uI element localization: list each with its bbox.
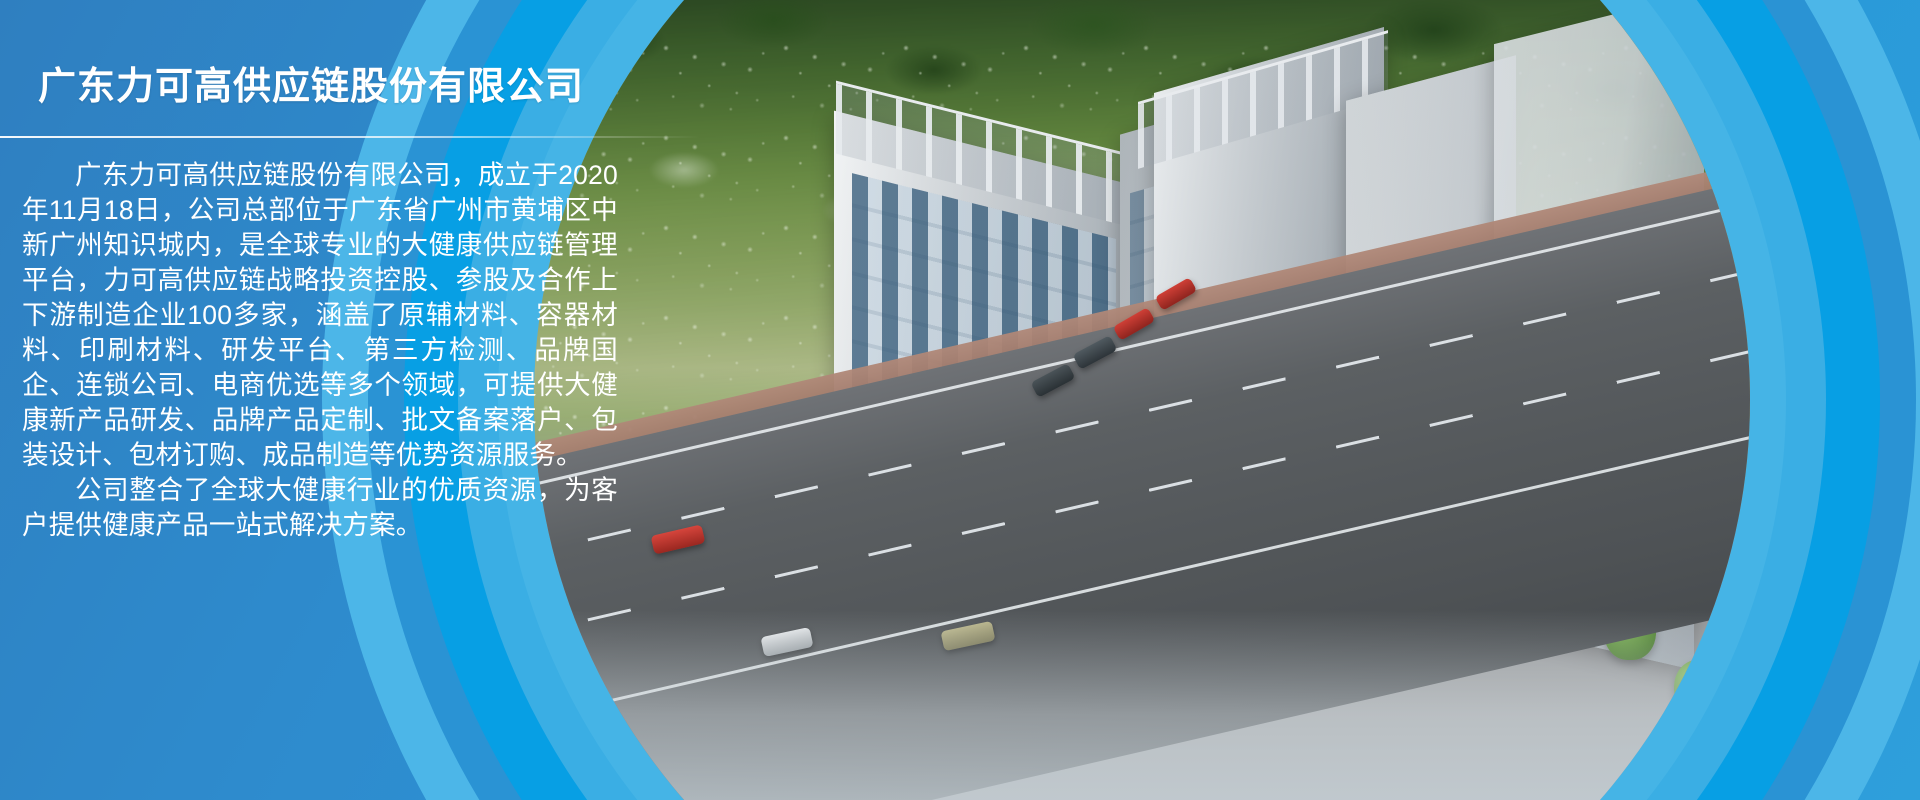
- facility-photo-disc: [534, 0, 1750, 800]
- facility-aerial-photo: [534, 0, 1750, 800]
- tree: [1674, 660, 1720, 714]
- intro-paragraph-2: 公司整合了全球大健康行业的优质资源，为客户提供健康产品一站式解决方案。: [22, 473, 618, 543]
- intro-paragraph-1: 广东力可高供应链股份有限公司，成立于2020年11月18日，公司总部位于广东省广…: [22, 158, 618, 473]
- intro-body-copy: 广东力可高供应链股份有限公司，成立于2020年11月18日，公司总部位于广东省广…: [22, 158, 618, 543]
- intro-text-column: 广东力可高供应链股份有限公司 广东力可高供应链股份有限公司，成立于2020年11…: [0, 0, 660, 800]
- company-intro-banner: 广东力可高供应链股份有限公司 广东力可高供应链股份有限公司，成立于2020年11…: [0, 0, 1920, 800]
- title-divider: [0, 136, 700, 138]
- page-title: 广东力可高供应链股份有限公司: [38, 55, 584, 110]
